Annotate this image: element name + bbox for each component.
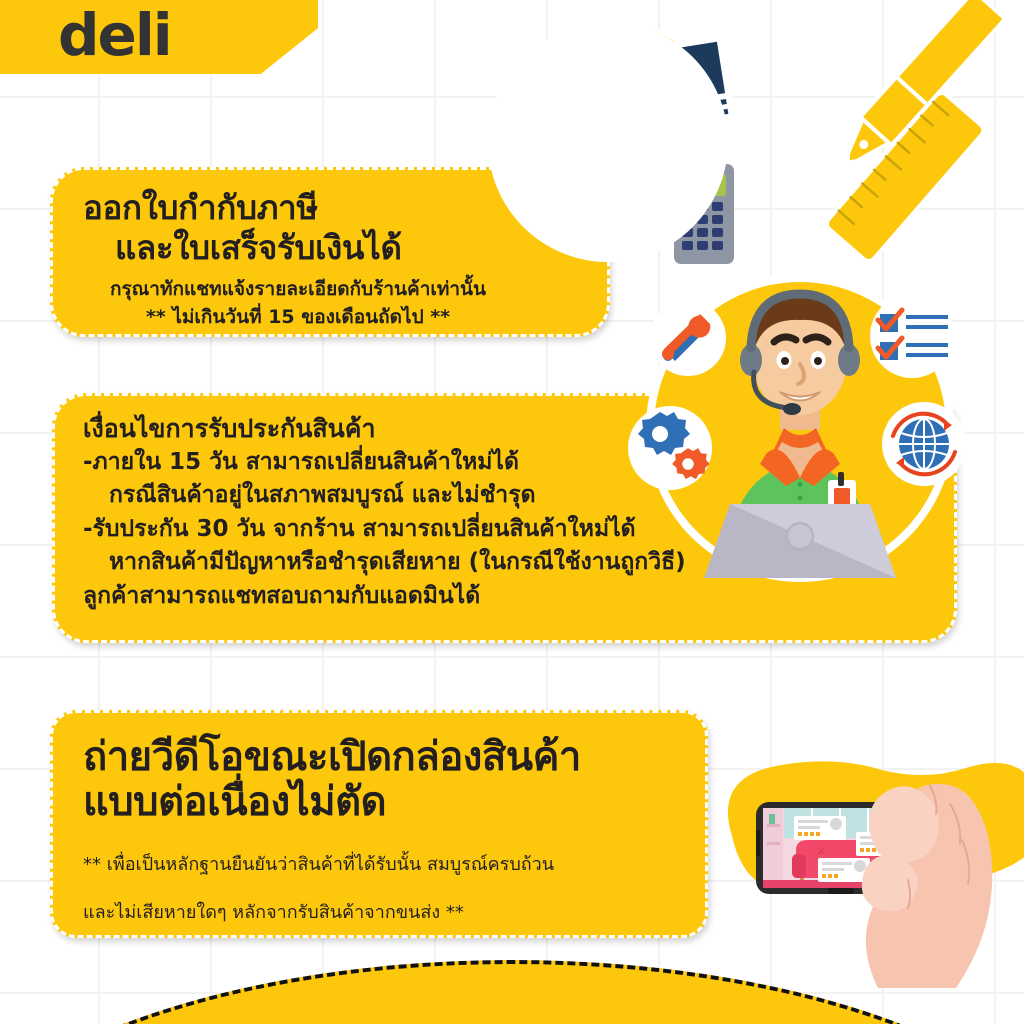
customer-support-agent-illustration — [614, 268, 986, 578]
brand-logo-text: deli — [58, 6, 171, 64]
invoice-note-line1: กรุณาทักแชทแจ้งรายละเอียดกับร้านค้าเท่าน… — [83, 275, 583, 304]
video-note-line1: ** เพื่อเป็นหลักฐานยืนยันว่าสินค้าที่ได้… — [83, 851, 679, 878]
video-title-line1: ถ่ายวีดีโอขณะเปิดกล่องสินค้า — [83, 735, 679, 780]
globe-icon — [882, 402, 966, 486]
video-title-line2: แบบต่อเนื่องไม่ตัด — [83, 780, 679, 825]
invoice-policy-card: ออกใบกำกับภาษี และใบเสร็จรับเงินได้ กรุณ… — [50, 167, 610, 337]
unboxing-video-policy-card: ถ่ายวีดีโอขณะเปิดกล่องสินค้า แบบต่อเนื่อ… — [50, 710, 708, 938]
tools-icon — [650, 300, 726, 376]
warranty-line-5: ลูกค้าสามารถแชทสอบถามกับแอดมินได้ — [83, 580, 934, 614]
checklist-icon — [870, 294, 954, 378]
invoice-title-line1: ออกใบกำกับภาษี — [83, 188, 583, 228]
infographic-canvas: deli — [0, 0, 1024, 1024]
brand-logo-banner: deli — [0, 0, 318, 74]
hand-holding-phone-illustration — [694, 752, 1024, 1002]
pen-and-ruler-illustration — [788, 26, 1024, 226]
invoice-title-line2: และใบเสร็จรับเงินได้ — [115, 228, 583, 268]
invoice-note-line2: ** ไม่เกินวันที่ 15 ของเดือนถัดไป ** — [83, 303, 583, 332]
gears-icon — [628, 406, 712, 490]
video-note-line2: และไม่เสียหายใดๆ หลักจากรับสินค้าจากขนส่… — [83, 899, 679, 926]
